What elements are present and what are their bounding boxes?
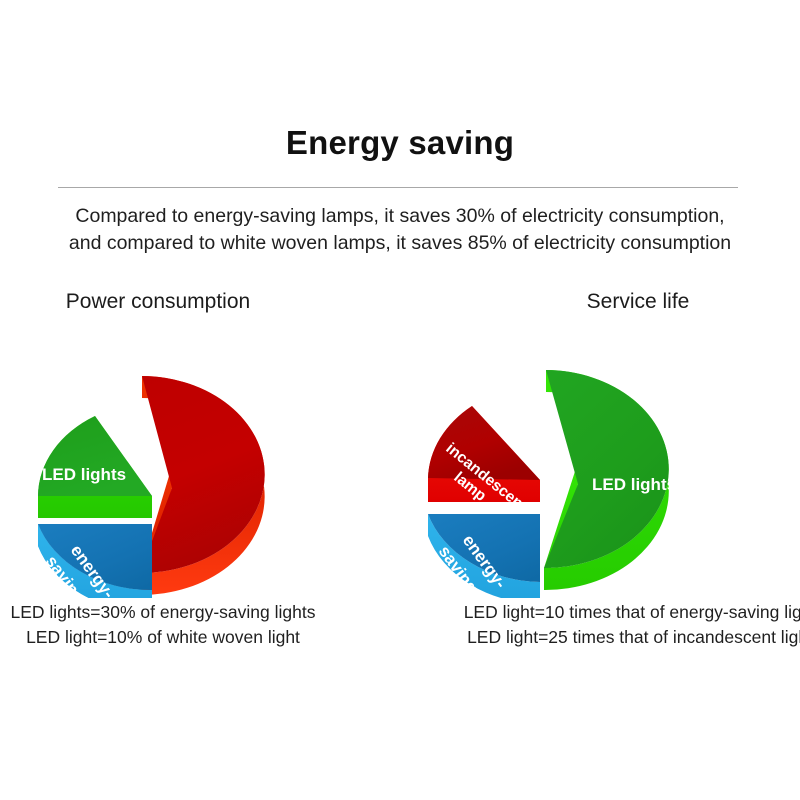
pie-label-led-lights: LED lights bbox=[42, 465, 126, 484]
pie-chart-service-life: LED lights incandescent lamp energy- sav… bbox=[400, 328, 800, 598]
caption-service-line-2: LED light=25 times that of incandescent … bbox=[440, 625, 800, 650]
subtitle-line-2: and compared to white woven lamps, it sa… bbox=[0, 230, 800, 257]
caption-power-line-1: LED lights=30% of energy-saving lights bbox=[0, 600, 363, 625]
pie-label-led-lights-right: LED lights bbox=[592, 475, 676, 494]
panel-power-consumption: Power consumption bbox=[0, 290, 400, 670]
pie-chart-power-consumption-svg: LED lights energy- saving lamp bbox=[0, 328, 400, 598]
subtitle-line-1: Compared to energy-saving lamps, it save… bbox=[0, 203, 800, 230]
panel-heading-power-consumption: Power consumption bbox=[0, 290, 358, 314]
pie-chart-power-consumption: LED lights energy- saving lamp bbox=[0, 328, 400, 598]
caption-service-life: LED light=10 times that of energy-saving… bbox=[440, 600, 800, 650]
caption-power-line-2: LED light=10% of white woven light bbox=[0, 625, 363, 650]
subtitle: Compared to energy-saving lamps, it save… bbox=[0, 203, 800, 257]
panel-service-life: Service life bbox=[400, 290, 800, 670]
pie-chart-service-life-svg: LED lights incandescent lamp energy- sav… bbox=[400, 328, 800, 598]
title-divider bbox=[58, 187, 738, 188]
poster-root: Energy saving Compared to energy-saving … bbox=[0, 0, 800, 800]
caption-power-consumption: LED lights=30% of energy-saving lights L… bbox=[0, 600, 363, 650]
panel-heading-service-life: Service life bbox=[438, 290, 800, 314]
caption-service-line-1: LED light=10 times that of energy-saving… bbox=[440, 600, 800, 625]
pie-left-render: LED lights energy- saving lamp bbox=[0, 328, 400, 598]
page-title: Energy saving bbox=[0, 124, 800, 162]
